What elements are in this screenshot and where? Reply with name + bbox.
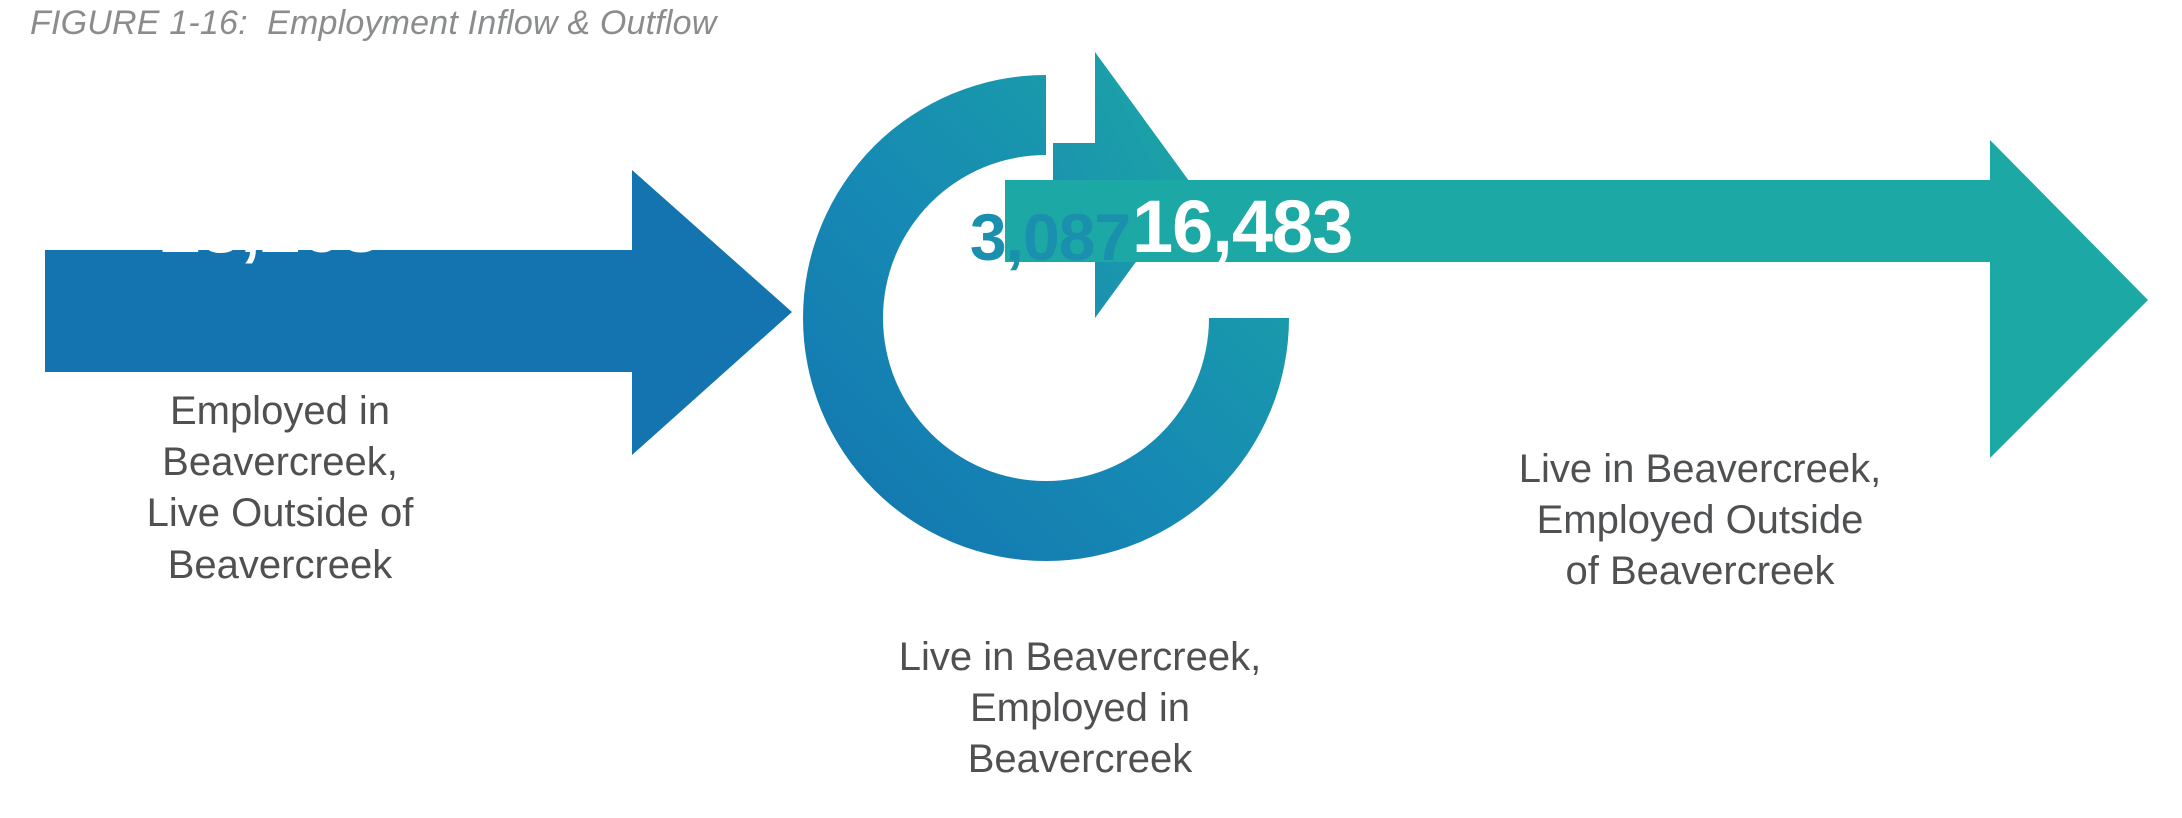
inflow-caption: Employed in Beavercreek, Live Outside of…	[60, 386, 500, 591]
internal-circular-arrow-icon	[803, 52, 1300, 561]
internal-caption: Live in Beavercreek, Employed in Beaverc…	[800, 632, 1360, 786]
outflow-caption: Live in Beavercreek, Employed Outside of…	[1400, 444, 2000, 598]
inflow-value: 23,268	[160, 190, 380, 264]
figure-container: FIGURE 1-16: Employment Inflow & Outflow	[0, 0, 2182, 818]
outflow-value: 16,483	[1132, 190, 1352, 264]
